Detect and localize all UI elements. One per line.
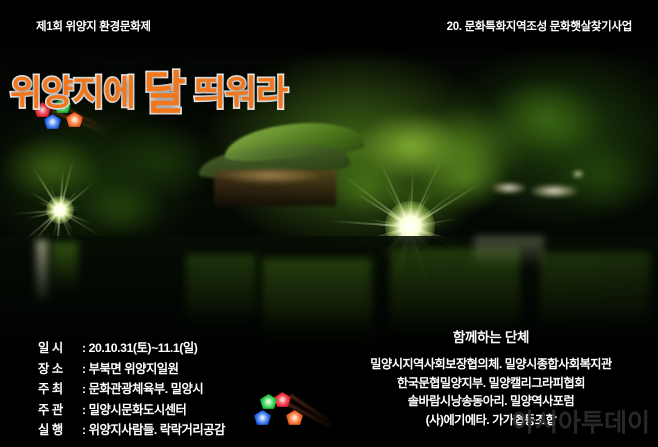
detail-separator: : (82, 423, 89, 437)
distant-building-light-2 (530, 184, 578, 198)
starburst-core-left (46, 196, 74, 224)
pavilion-underlight (218, 168, 324, 184)
water-reflection-white-2 (474, 236, 544, 266)
distant-building-light-1 (492, 182, 526, 194)
partners-title: 함께하는 단체 (330, 326, 652, 346)
detail-row: 주 관:밀양시문화도시센터 (38, 400, 225, 421)
water-reflection-white (36, 240, 48, 302)
detail-label: 주 관 (38, 400, 82, 421)
detail-row: 장 소:부북면 위양지일원 (38, 359, 225, 380)
distant-building-light-3 (572, 170, 584, 178)
detail-value: 위양지사람들. 락락거리공감 (89, 423, 225, 437)
detail-row: 일 시:20.10.31(토)~11.1(일) (38, 338, 225, 359)
detail-value: 부북면 위양지일원 (89, 362, 179, 376)
lantern-green (260, 394, 277, 409)
detail-separator: : (82, 341, 89, 355)
detail-label: 일 시 (38, 338, 82, 359)
detail-separator: : (82, 403, 89, 417)
detail-value: 밀양시문화도시센터 (89, 403, 187, 417)
detail-separator: : (82, 382, 89, 396)
detail-label: 실 행 (38, 420, 82, 441)
lantern-cluster-bottom (252, 390, 322, 432)
water-reflection-green-1 (52, 242, 78, 290)
event-details-block: 일 시:20.10.31(토)~11.1(일) 장 소:부북면 위양지일원 주 … (38, 338, 225, 441)
title-part-1: 위양지에 (10, 74, 144, 113)
detail-value: 문화관광체육부. 밀양시 (89, 382, 204, 396)
press-watermark: 아시아투데이 (512, 403, 650, 439)
partner-line: 밀양시지역사회보장협의체. 밀양시종합사회복지관 (330, 355, 652, 374)
festival-poster: 제1회 위양지 환경문화제 20. 문화특화지역조성 문화햇살찾기사업 위양지에… (0, 0, 658, 447)
title-part-2: 띄워라 (185, 74, 287, 113)
detail-row: 주 최:문화관광체육부. 밀양시 (38, 379, 225, 400)
title-emphasis-moon: 달 (144, 67, 185, 119)
header-left-text: 제1회 위양지 환경문화제 (36, 18, 151, 34)
lantern-blue (254, 410, 271, 425)
detail-label: 장 소 (38, 359, 82, 380)
detail-separator: : (82, 362, 89, 376)
poster-main-title: 위양지에 달 띄워라 (10, 57, 287, 123)
detail-value: 20.10.31(토)~11.1(일) (89, 341, 198, 355)
partner-line: 한국문협밀양지부. 밀양캘리그라피협회 (330, 374, 652, 393)
detail-label: 주 최 (38, 379, 82, 400)
detail-row: 실 행:위양지사람들. 락락거리공감 (38, 420, 225, 441)
header-right-text: 20. 문화특화지역조성 문화햇살찾기사업 (447, 18, 632, 34)
